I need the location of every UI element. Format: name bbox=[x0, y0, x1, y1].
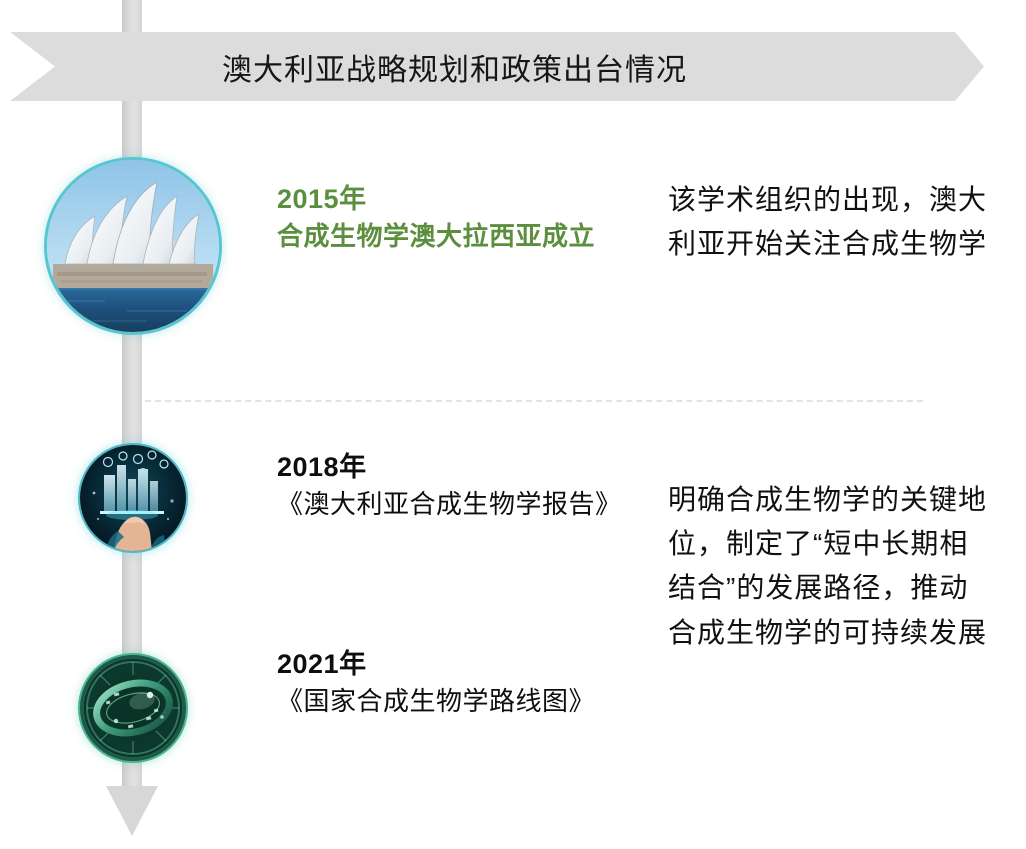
page-title: 澳大利亚战略规划和政策出台情况 bbox=[222, 45, 687, 89]
grouped-description-group: 明确合成生物学的关键地位，制定了“短中长期相结合”的发展路径，推动合成生物学的可… bbox=[668, 478, 993, 655]
timeline-infographic: 澳大利亚战略规划和政策出台情况 bbox=[0, 0, 1026, 849]
entry-2015-description-group: 该学术组织的出现，澳大利亚开始关注合成生物学 bbox=[668, 178, 993, 266]
green-circuit-chip-icon bbox=[80, 655, 186, 761]
smart-city-hand-icon bbox=[80, 445, 186, 551]
entry-2018-year: 2018年 bbox=[277, 448, 637, 486]
entry-2015-label-group: 2015年 合成生物学澳大拉西亚成立 bbox=[277, 180, 637, 256]
grouped-description: 明确合成生物学的关键地位，制定了“短中长期相结合”的发展路径，推动合成生物学的可… bbox=[668, 478, 993, 655]
entry-2021-label-group: 2021年 《国家合成生物学路线图》 bbox=[277, 645, 637, 721]
entry-2021-year: 2021年 bbox=[277, 645, 637, 683]
timeline-arrow-icon bbox=[106, 786, 158, 836]
entry-2018-label-group: 2018年 《澳大利亚合成生物学报告》 bbox=[277, 448, 637, 524]
sydney-opera-house-icon bbox=[47, 160, 219, 332]
sydney-opera-house-photo bbox=[47, 160, 219, 332]
entry-2021-event: 《国家合成生物学路线图》 bbox=[277, 683, 637, 721]
entry-2015-year: 2015年 bbox=[277, 180, 637, 218]
smart-city-hand-photo bbox=[80, 445, 186, 551]
entry-2015-event: 合成生物学澳大拉西亚成立 bbox=[277, 218, 637, 256]
section-divider bbox=[145, 400, 923, 402]
entry-2018-event: 《澳大利亚合成生物学报告》 bbox=[277, 486, 637, 524]
green-circuit-chip-photo bbox=[80, 655, 186, 761]
entry-2015-description: 该学术组织的出现，澳大利亚开始关注合成生物学 bbox=[668, 178, 993, 266]
